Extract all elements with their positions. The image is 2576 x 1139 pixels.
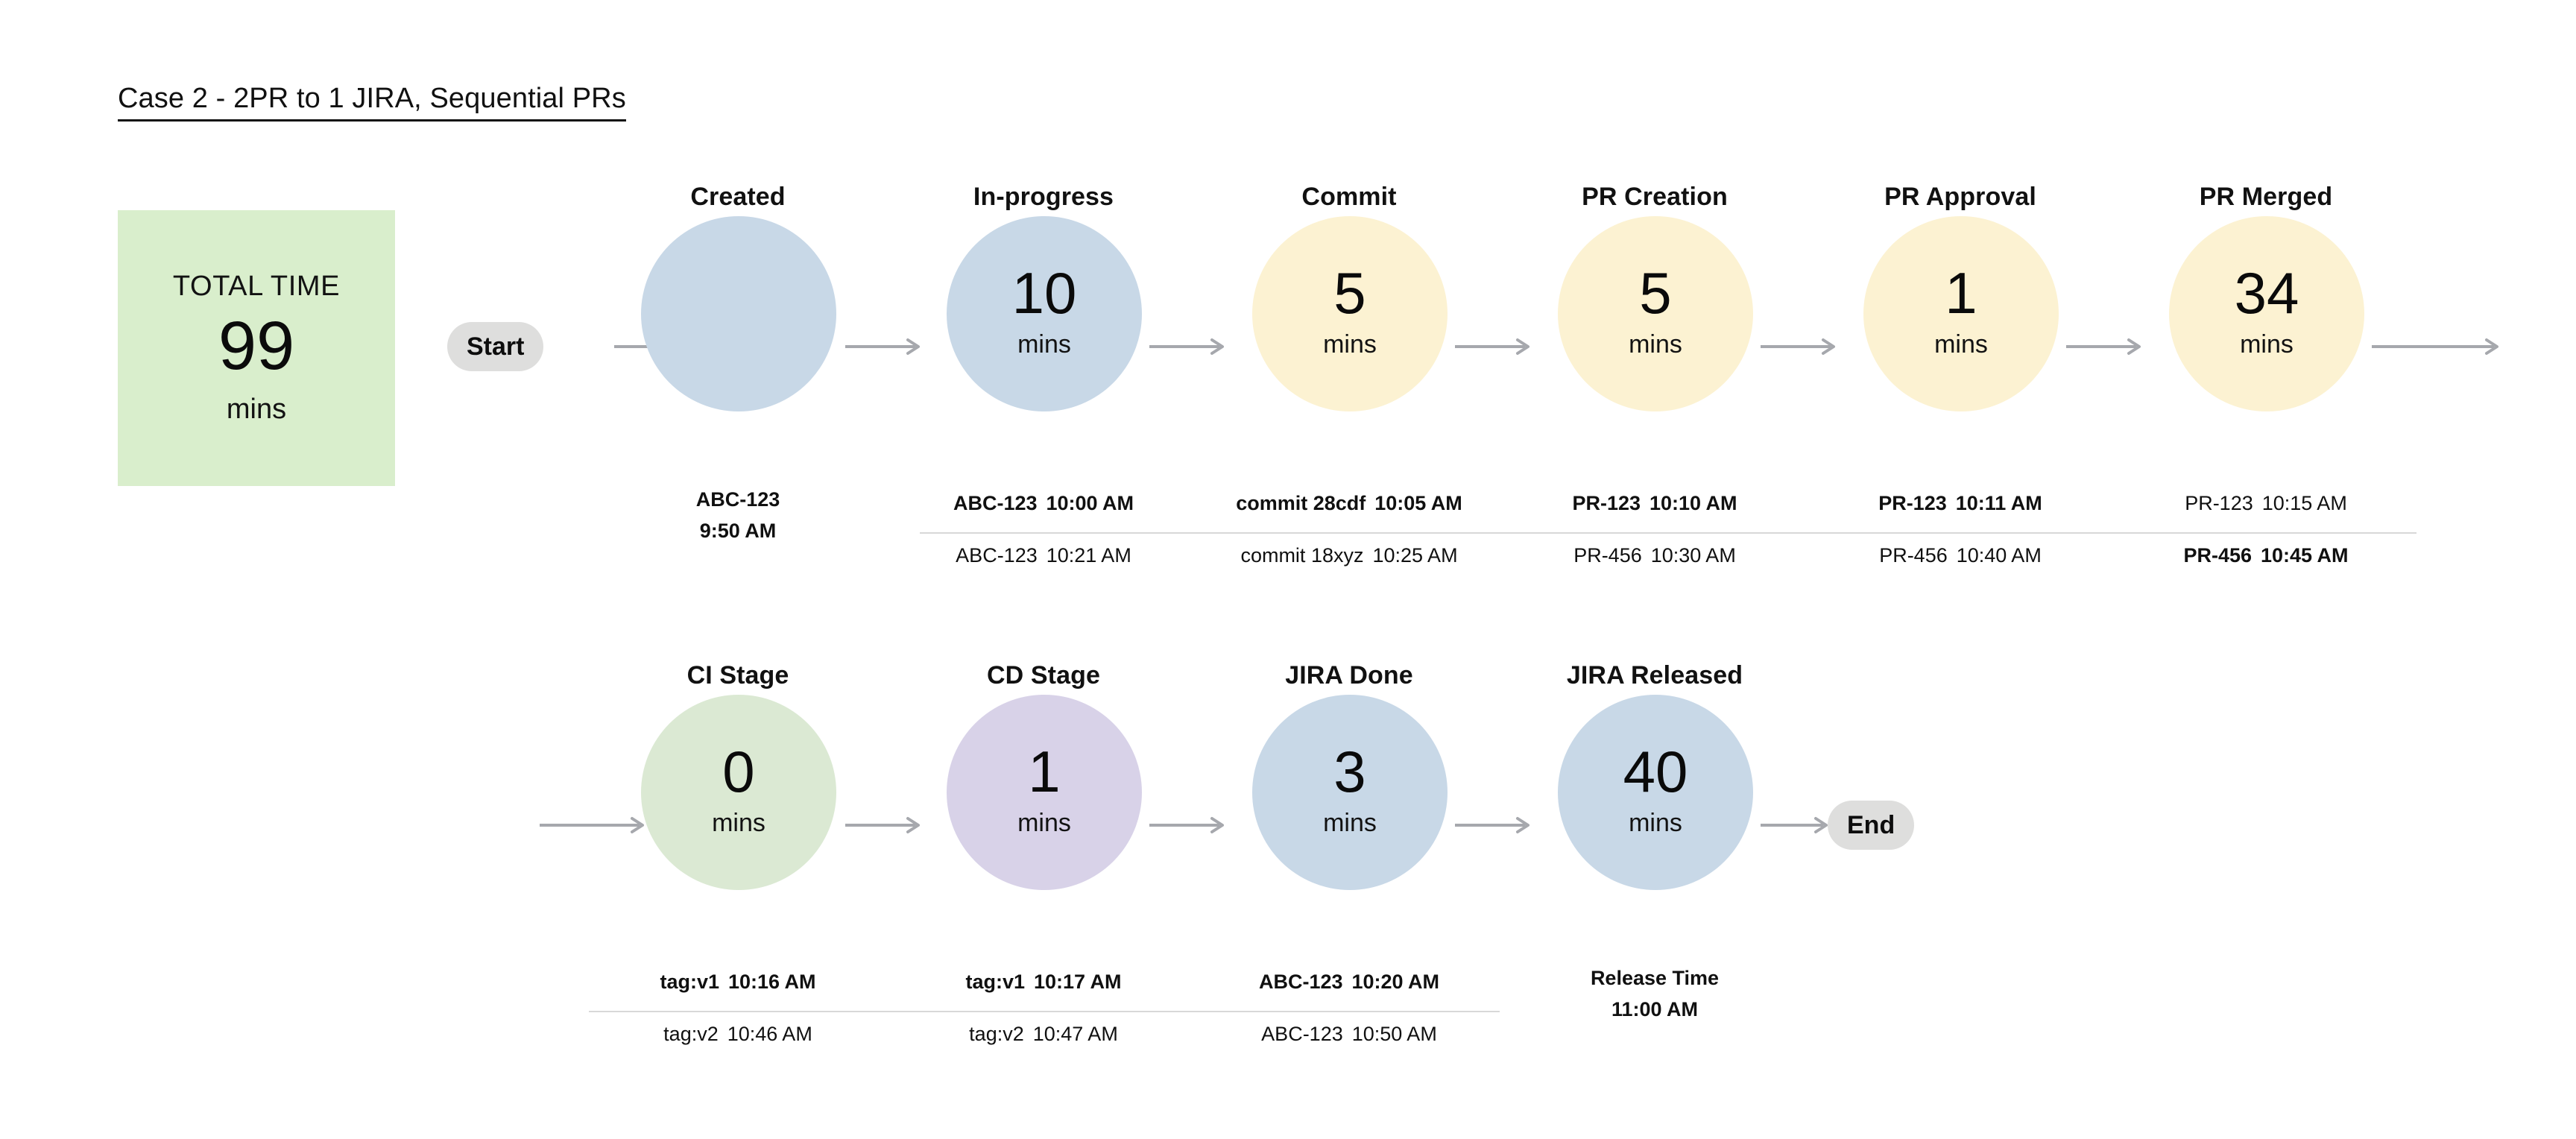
node-unit-in-progress: mins: [1017, 330, 1071, 359]
node-unit-commit: mins: [1323, 330, 1377, 359]
detail-bottom-pr-creation: PR-45610:30 AM: [1528, 544, 1781, 567]
detail-time: 10:46 AM: [727, 1023, 812, 1045]
node-bubble-cd-stage[interactable]: 1 mins: [947, 695, 1142, 890]
arrow-cdstage-to-jiradone: [1149, 815, 1231, 835]
node-bubble-in-progress[interactable]: 10 mins: [947, 216, 1142, 411]
arrow-commit-to-prcreation: [1455, 337, 1537, 356]
arrow-cistage-to-cdstage: [845, 815, 927, 835]
detail-time: 10:25 AM: [1372, 544, 1457, 567]
arrow-jiradone-to-jirareleased: [1455, 815, 1537, 835]
detail-bottom-pr-merged: PR-45610:45 AM: [2139, 544, 2393, 567]
node-header-ci-stage: CI Stage: [626, 661, 850, 690]
detail-top-ci-stage: tag:v110:16 AM: [611, 971, 865, 994]
detail-stack-created: ABC-123 9:50 AM: [611, 485, 865, 547]
node-bubble-commit[interactable]: 5 mins: [1252, 216, 1448, 411]
node-unit-jira-done: mins: [1323, 809, 1377, 838]
detail-ref: ABC-123: [1259, 971, 1343, 993]
node-unit-pr-approval: mins: [1934, 330, 1988, 359]
detail-ref: tag:v2: [663, 1023, 719, 1045]
detail-time: 10:47 AM: [1033, 1023, 1118, 1045]
arrow-prcreation-to-prapproval: [1761, 337, 1843, 356]
node-unit-cd-stage: mins: [1017, 809, 1071, 838]
node-value-commit: 5: [1333, 265, 1366, 321]
detail-divider-row2: [589, 1011, 1500, 1012]
detail-bottom-ci-stage: tag:v210:46 AM: [611, 1023, 865, 1046]
detail-time: 10:40 AM: [1957, 544, 2042, 567]
node-bubble-jira-released[interactable]: 40 mins: [1558, 695, 1753, 890]
arrow-prapproval-to-prmerged: [2066, 337, 2148, 356]
node-header-pr-merged: PR Merged: [2154, 183, 2378, 212]
detail-time: 10:10 AM: [1650, 492, 1737, 514]
detail-time: 10:17 AM: [1034, 971, 1122, 993]
detail-time: 10:05 AM: [1374, 492, 1462, 514]
detail-ref: tag:v2: [969, 1023, 1024, 1045]
detail-divider-row1: [920, 532, 2416, 534]
start-pill[interactable]: Start: [447, 322, 543, 371]
detail-ref: PR-456: [1573, 544, 1642, 567]
detail-line: Release Time: [1528, 963, 1781, 994]
detail-top-jira-done: ABC-12310:20 AM: [1222, 971, 1476, 994]
detail-ref: PR-456: [2183, 544, 2252, 567]
detail-ref: PR-123: [1878, 492, 1947, 514]
detail-bottom-pr-approval: PR-45610:40 AM: [1834, 544, 2087, 567]
total-time-card: TOTAL TIME 99 mins: [118, 210, 395, 486]
node-value-jira-done: 3: [1333, 744, 1366, 799]
node-bubble-pr-approval[interactable]: 1 mins: [1863, 216, 2059, 411]
detail-time: 10:11 AM: [1956, 492, 2042, 514]
detail-time: 10:15 AM: [2262, 492, 2347, 514]
node-value-cd-stage: 1: [1028, 744, 1060, 799]
detail-top-pr-approval: PR-12310:11 AM: [1834, 492, 2087, 515]
arrow-row1-to-cistage: [540, 815, 651, 835]
detail-bottom-commit: commit 18xyz10:25 AM: [1222, 544, 1476, 567]
node-value-pr-merged: 34: [2235, 265, 2299, 321]
node-header-in-progress: In-progress: [932, 183, 1155, 212]
detail-bottom-jira-done: ABC-12310:50 AM: [1222, 1023, 1476, 1046]
node-header-created: Created: [626, 183, 850, 212]
detail-bottom-cd-stage: tag:v210:47 AM: [917, 1023, 1170, 1046]
node-bubble-jira-done[interactable]: 3 mins: [1252, 695, 1448, 890]
detail-time: 10:45 AM: [2261, 544, 2349, 567]
detail-time: 10:00 AM: [1046, 492, 1134, 514]
detail-line: 11:00 AM: [1528, 994, 1781, 1026]
node-unit-jira-released: mins: [1629, 809, 1682, 838]
node-header-cd-stage: CD Stage: [932, 661, 1155, 690]
node-value-ci-stage: 0: [722, 744, 754, 799]
detail-ref: ABC-123: [956, 544, 1038, 567]
detail-ref: tag:v1: [660, 971, 719, 993]
node-unit-ci-stage: mins: [712, 809, 765, 838]
detail-ref: tag:v1: [965, 971, 1025, 993]
detail-ref: PR-456: [1879, 544, 1948, 567]
detail-time: 10:20 AM: [1352, 971, 1440, 993]
arrow-prmerged-to-row2: [2372, 337, 2506, 356]
node-bubble-ci-stage[interactable]: 0 mins: [641, 695, 836, 890]
node-value-jira-released: 40: [1623, 744, 1688, 799]
detail-top-commit: commit 28cdf10:05 AM: [1222, 492, 1476, 515]
detail-bottom-in-progress: ABC-12310:21 AM: [917, 544, 1170, 567]
total-time-label: TOTAL TIME: [173, 271, 340, 303]
node-value-pr-approval: 1: [1945, 265, 1977, 321]
node-header-jira-released: JIRA Released: [1543, 661, 1767, 690]
detail-line: 9:50 AM: [611, 516, 865, 547]
end-pill[interactable]: End: [1828, 801, 1914, 850]
detail-time: 10:50 AM: [1352, 1023, 1437, 1045]
detail-ref: ABC-123: [1261, 1023, 1343, 1045]
node-header-pr-approval: PR Approval: [1849, 183, 2072, 212]
node-value-pr-creation: 5: [1639, 265, 1671, 321]
node-bubble-created[interactable]: [641, 216, 836, 411]
detail-ref: ABC-123: [953, 492, 1038, 514]
detail-line: ABC-123: [611, 485, 865, 516]
detail-time: 10:21 AM: [1046, 544, 1131, 567]
detail-time: 10:30 AM: [1651, 544, 1736, 567]
page-title: Case 2 - 2PR to 1 JIRA, Sequential PRs: [118, 84, 626, 122]
detail-top-cd-stage: tag:v110:17 AM: [917, 971, 1170, 994]
detail-ref: commit 18xyz: [1240, 544, 1363, 567]
node-bubble-pr-merged[interactable]: 34 mins: [2169, 216, 2364, 411]
detail-time: 10:16 AM: [728, 971, 816, 993]
node-value-in-progress: 10: [1012, 265, 1077, 321]
detail-top-pr-merged: PR-12310:15 AM: [2139, 492, 2393, 515]
arrow-inprogress-to-commit: [1149, 337, 1231, 356]
detail-top-in-progress: ABC-12310:00 AM: [917, 492, 1170, 515]
total-time-unit: mins: [227, 394, 286, 426]
detail-ref: commit 28cdf: [1236, 492, 1366, 514]
arrow-created-to-inprogress: [845, 337, 927, 356]
node-bubble-pr-creation[interactable]: 5 mins: [1558, 216, 1753, 411]
detail-top-pr-creation: PR-12310:10 AM: [1528, 492, 1781, 515]
arrow-jirareleased-to-end: [1761, 815, 1835, 835]
node-unit-pr-merged: mins: [2240, 330, 2294, 359]
node-header-commit: Commit: [1237, 183, 1461, 212]
node-unit-pr-creation: mins: [1629, 330, 1682, 359]
detail-ref: PR-123: [2185, 492, 2253, 514]
node-header-pr-creation: PR Creation: [1543, 183, 1767, 212]
detail-stack-jira-released: Release Time 11:00 AM: [1528, 963, 1781, 1026]
detail-ref: PR-123: [1572, 492, 1641, 514]
total-time-value: 99: [218, 312, 294, 380]
node-header-jira-done: JIRA Done: [1237, 661, 1461, 690]
